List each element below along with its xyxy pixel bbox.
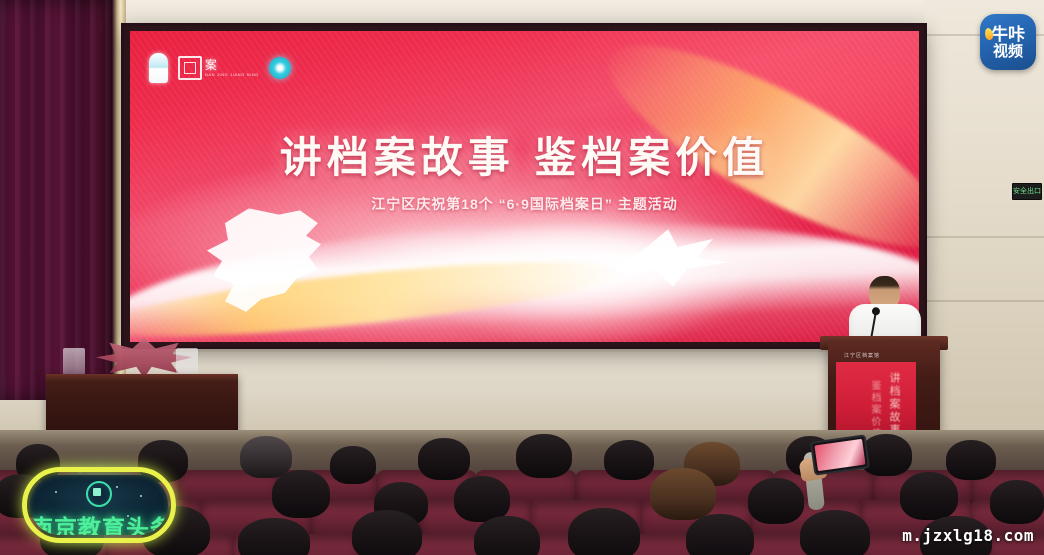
niuka-video-watermark[interactable]: 牛咔 视频 [980,14,1036,70]
exit-sign: 安全出口 [1012,183,1042,200]
watermark-line-1: 牛咔 [991,26,1025,43]
audience-head [240,436,292,478]
audience-head [474,516,540,555]
audience-head [272,470,330,518]
head-table [46,374,238,438]
video-frame: 安全出口 案 NAN JING JIANG NING 讲档案故事 鉴档案价值 江… [0,0,1044,555]
wordmark-cn: 案 [205,59,259,71]
audience-head [990,480,1044,524]
audience-head [946,440,996,480]
podium-banner-line-1: 讲档案故事 [886,372,902,437]
audience-head [900,472,958,520]
audience-head [516,434,572,478]
seal-mark-icon [178,56,202,80]
led-screen: 案 NAN JING JIANG NING 讲档案故事 鉴档案价值 江宁区庆祝第… [130,31,919,342]
exit-sign-label: 安全出口 [1013,188,1041,195]
archive-building-logo-icon [149,53,168,83]
audience-head [352,510,422,555]
screen-subtitle: 江宁区庆祝第18个 “6·9国际档案日” 主题活动 [130,194,919,214]
audience-head [454,476,510,522]
audience-head [686,514,754,555]
nanjing-education-headlines-badge[interactable]: 南京教育头条 [14,459,184,551]
institution-wordmark-logo: 案 NAN JING JIANG NING [178,56,259,80]
audience-head [604,440,654,480]
audience-head [748,478,804,524]
badge-ring [22,467,176,543]
podium-plate-label: 江宁区档案馆 [844,352,880,359]
wordmark-en: NAN JING JIANG NING [205,73,259,77]
audience-head [418,438,470,480]
audience-head [568,508,640,555]
screen-main-title: 讲档案故事 鉴档案价值 [130,124,919,185]
audience-head [800,510,870,555]
audience-head [650,468,716,520]
phone-screen [814,439,865,471]
site-url-watermark: m.jzxlg18.com [902,526,1034,545]
stage-curtain [0,0,118,400]
circular-emblem-logo-icon [269,57,291,79]
screen-logo-row: 案 NAN JING JIANG NING [149,53,291,83]
audience-head [238,518,310,555]
audience-head [330,446,376,484]
watermark-line-2: 视频 [993,44,1023,59]
